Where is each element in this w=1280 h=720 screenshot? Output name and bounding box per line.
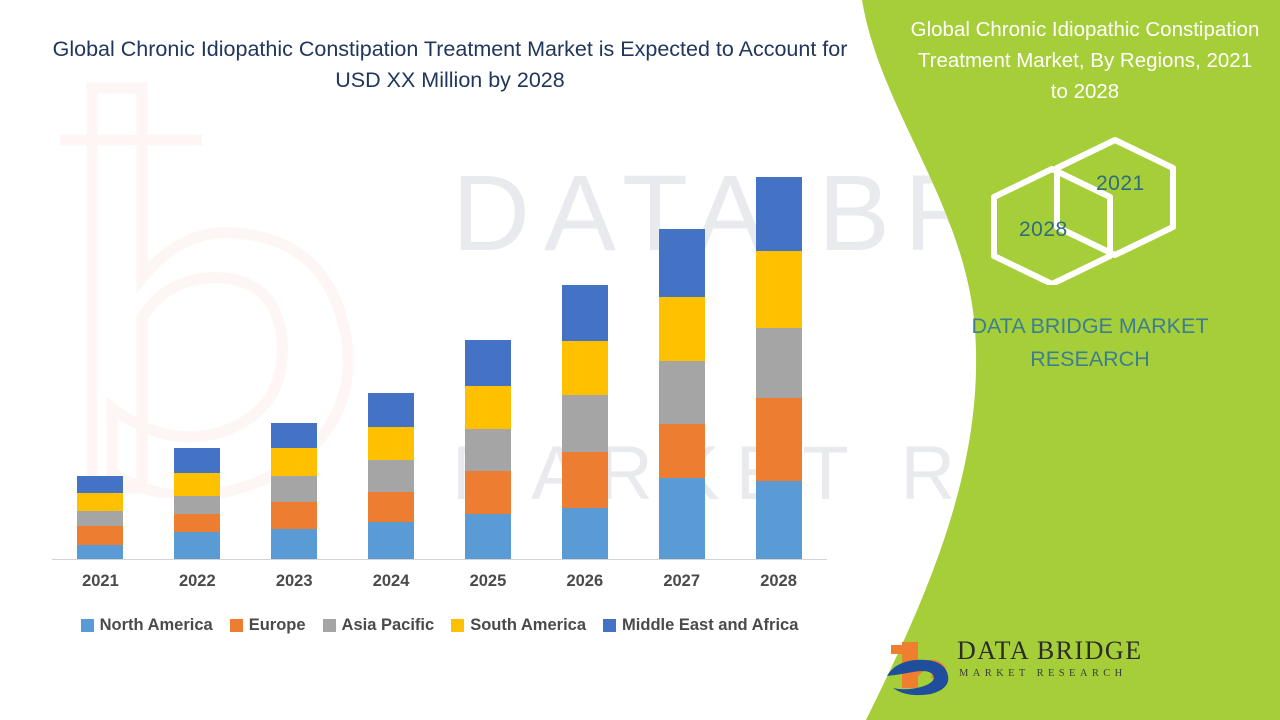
bar-segment-north-america[interactable] [756,481,802,559]
legend-swatch-icon [451,619,464,632]
bar-segment-europe[interactable] [174,514,220,532]
bar-segment-middle-east-and-africa[interactable] [368,393,414,427]
stacked-bar[interactable] [271,423,317,559]
chart-plot-area [52,150,827,560]
bar-segment-south-america[interactable] [174,473,220,495]
data-bridge-logo: DATA BRIDGE MARKET RESEARCH [885,632,1110,698]
legend-item-middle-east-and-africa[interactable]: Middle East and Africa [603,616,798,635]
bar-segment-north-america[interactable] [465,514,511,559]
bar-segment-north-america[interactable] [562,508,608,559]
hexagon-pair-graphic [980,135,1200,285]
bar-segment-middle-east-and-africa[interactable] [465,340,511,386]
chart-title: Global Chronic Idiopathic Constipation T… [50,34,850,96]
bar-segment-europe[interactable] [756,398,802,481]
bar-segment-asia-pacific[interactable] [271,476,317,502]
legend-item-asia-pacific[interactable]: Asia Pacific [323,616,435,635]
bar-column-2025[interactable] [445,340,531,559]
x-axis-label-2022: 2022 [154,572,240,591]
bar-segment-asia-pacific[interactable] [562,395,608,451]
bar-segment-asia-pacific[interactable] [368,460,414,492]
x-axis-label-2021: 2021 [57,572,143,591]
panel-title: Global Chronic Idiopathic Constipation T… [910,14,1260,107]
bar-column-2027[interactable] [639,229,725,559]
bar-segment-north-america[interactable] [368,522,414,559]
infographic-canvas: DATA BRIDGE MARKET RESEARCH Global Chron… [0,0,1280,720]
legend-item-europe[interactable]: Europe [230,616,306,635]
bar-segment-middle-east-and-africa[interactable] [659,229,705,298]
bar-column-2023[interactable] [251,423,337,559]
bar-segment-south-america[interactable] [659,297,705,360]
bar-segment-asia-pacific[interactable] [77,511,123,526]
x-axis-label-2025: 2025 [445,572,531,591]
bar-series-container [52,150,827,559]
brand-name-text: DATA BRIDGE MARKET RESEARCH [920,310,1260,376]
legend-item-south-america[interactable]: South America [451,616,586,635]
bar-column-2022[interactable] [154,448,240,559]
legend-swatch-icon [230,619,243,632]
bar-segment-middle-east-and-africa[interactable] [271,423,317,448]
stacked-bar[interactable] [77,476,123,559]
stacked-bar[interactable] [562,285,608,559]
bar-segment-europe[interactable] [562,452,608,508]
x-axis-line [52,559,827,560]
bar-segment-middle-east-and-africa[interactable] [756,177,802,252]
bar-segment-south-america[interactable] [562,341,608,395]
bar-segment-europe[interactable] [659,424,705,478]
chart-legend: North AmericaEuropeAsia PacificSouth Ame… [52,616,827,635]
green-panel-content: Global Chronic Idiopathic Constipation T… [900,0,1280,720]
bar-segment-south-america[interactable] [465,386,511,429]
stacked-bar[interactable] [174,448,220,559]
stacked-bar[interactable] [659,229,705,559]
bar-segment-south-america[interactable] [271,448,317,477]
bar-segment-north-america[interactable] [77,545,123,559]
bar-segment-north-america[interactable] [174,532,220,559]
x-axis-label-2028: 2028 [736,572,822,591]
bar-column-2028[interactable] [736,177,822,559]
legend-swatch-icon [603,619,616,632]
bar-segment-europe[interactable] [368,492,414,523]
x-axis-labels: 20212022202320242025202620272028 [52,572,827,591]
bar-segment-middle-east-and-africa[interactable] [77,476,123,492]
hexagon-2028-label: 2028 [1019,218,1068,242]
bar-column-2024[interactable] [348,393,434,559]
legend-label: South America [470,616,586,635]
bar-segment-asia-pacific[interactable] [659,361,705,424]
bar-segment-asia-pacific[interactable] [174,496,220,514]
bar-segment-south-america[interactable] [368,427,414,460]
x-axis-label-2026: 2026 [542,572,628,591]
legend-label: Europe [249,616,306,635]
legend-swatch-icon [81,619,94,632]
logo-wordmark: DATA BRIDGE [957,636,1143,666]
bar-segment-europe[interactable] [271,502,317,530]
bar-segment-north-america[interactable] [271,529,317,559]
legend-swatch-icon [323,619,336,632]
bar-segment-north-america[interactable] [659,478,705,559]
stacked-bar[interactable] [465,340,511,559]
bar-segment-middle-east-and-africa[interactable] [562,285,608,341]
hexagon-2021-icon [1057,140,1173,255]
bar-segment-south-america[interactable] [756,251,802,328]
bar-segment-middle-east-and-africa[interactable] [174,448,220,474]
legend-label: North America [100,616,213,635]
legend-label: Middle East and Africa [622,616,798,635]
bar-segment-europe[interactable] [465,471,511,514]
bar-column-2026[interactable] [542,285,628,559]
bar-segment-europe[interactable] [77,526,123,544]
legend-label: Asia Pacific [342,616,435,635]
stacked-bar[interactable] [368,393,414,559]
x-axis-label-2023: 2023 [251,572,337,591]
x-axis-label-2024: 2024 [348,572,434,591]
logo-tagline: MARKET RESEARCH [959,668,1127,679]
bar-segment-asia-pacific[interactable] [465,429,511,471]
hexagon-2021-label: 2021 [1096,172,1145,196]
legend-item-north-america[interactable]: North America [81,616,213,635]
bar-segment-asia-pacific[interactable] [756,328,802,399]
stacked-bar[interactable] [756,177,802,559]
x-axis-label-2027: 2027 [639,572,725,591]
bar-segment-south-america[interactable] [77,493,123,511]
bar-column-2021[interactable] [57,476,143,559]
